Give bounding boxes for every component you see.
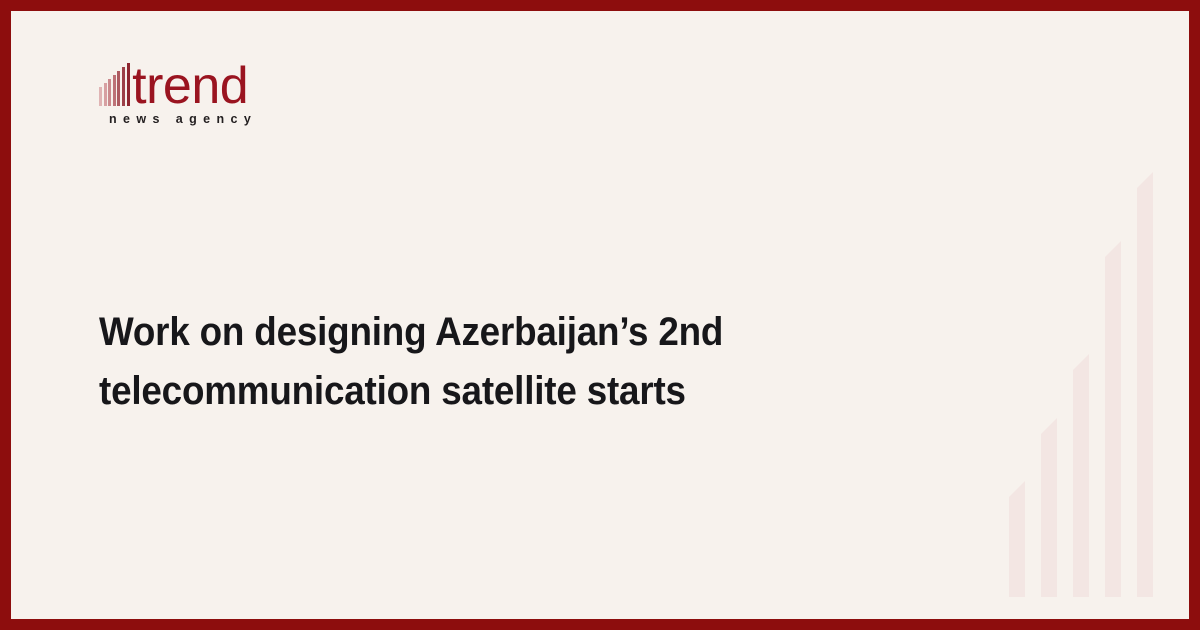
article-headline: Work on designing Azerbaijan’s 2nd telec… — [99, 303, 743, 421]
ascending-bars-icon — [99, 60, 131, 107]
brand-logo[interactable]: trend news agency — [99, 51, 439, 126]
ascending-bars-watermark-icon — [989, 11, 1189, 620]
social-share-card: trend news agency Work on designing Azer… — [0, 0, 1200, 630]
logo-mark-row: trend — [99, 51, 439, 107]
brand-wordmark: trend — [132, 63, 248, 109]
